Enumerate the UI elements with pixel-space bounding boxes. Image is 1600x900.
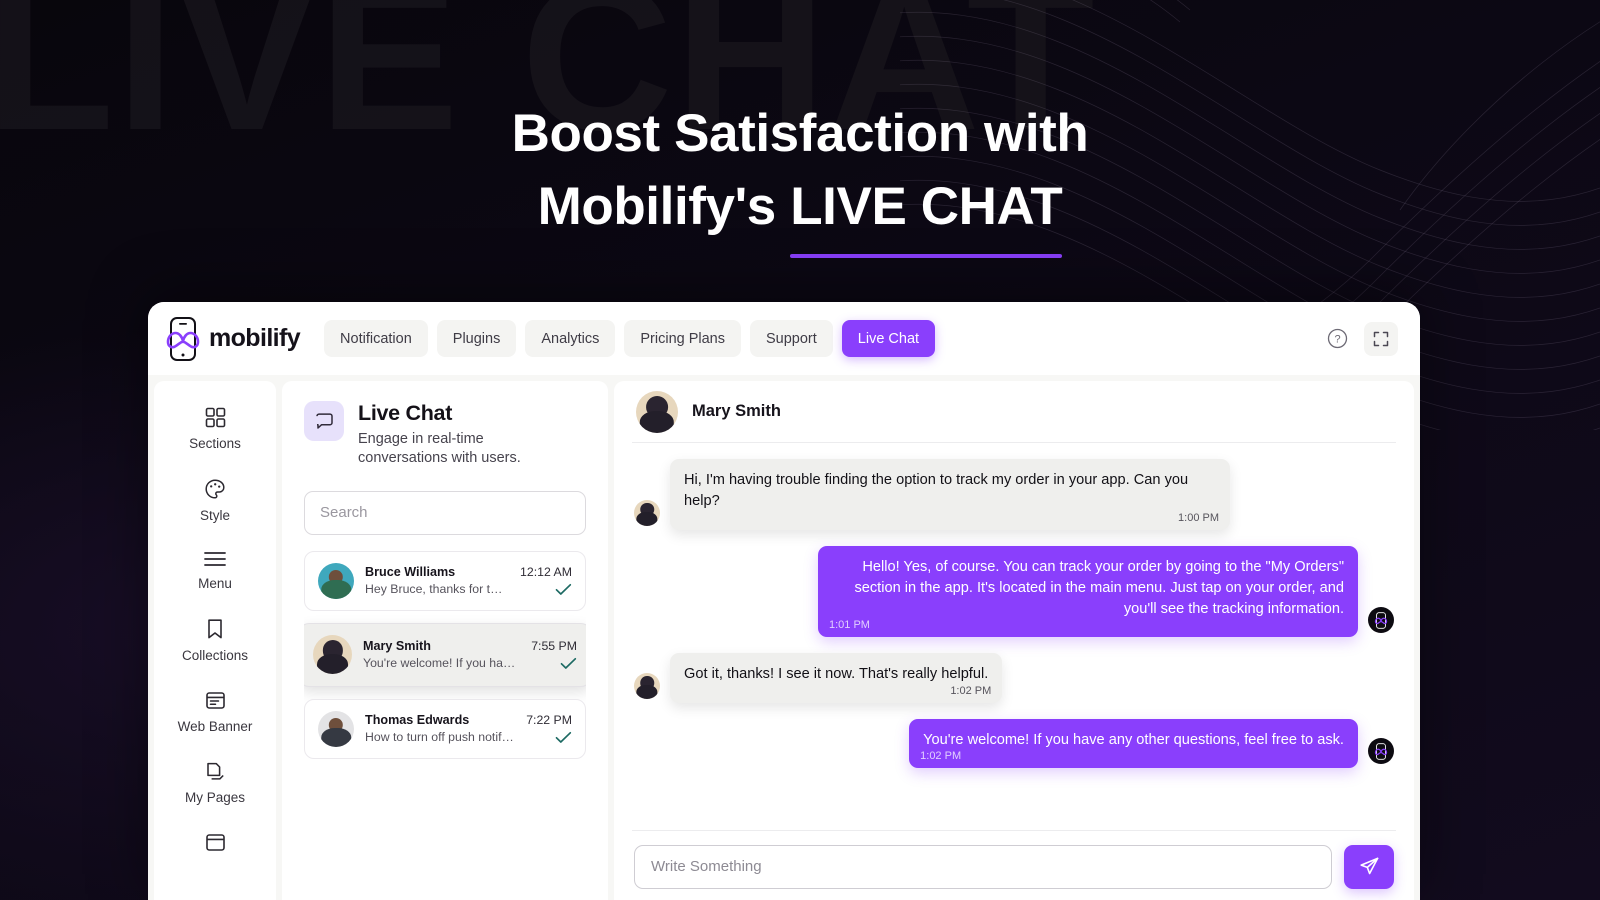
message-outgoing-2: You're welcome! If you have any other qu… bbox=[634, 719, 1394, 768]
conversations-header: Live Chat Engage in real-time conversati… bbox=[304, 401, 586, 469]
hamburger-icon bbox=[203, 550, 227, 568]
sidebar-item-menu[interactable]: Menu bbox=[154, 550, 276, 591]
message-timestamp: 1:02 PM bbox=[950, 683, 991, 699]
conversation-meta-bruce-williams: 12:12 AM bbox=[520, 565, 572, 596]
grid-icon bbox=[205, 407, 226, 428]
avatar-thomas-edwards bbox=[318, 711, 354, 747]
conversations-subtitle: Engage in real-time conversations with u… bbox=[358, 430, 563, 469]
message-input[interactable]: Write Something bbox=[634, 845, 1332, 889]
chat-panel: Mary Smith Hi, I'm having trouble findin… bbox=[614, 381, 1414, 900]
mobilify-phone-logo-icon bbox=[1374, 612, 1388, 629]
paper-plane-icon bbox=[1359, 856, 1380, 877]
conversation-text-mary-smith: Mary Smith You're welcome! If you have..… bbox=[363, 639, 520, 670]
conversation-name: Mary Smith bbox=[363, 639, 520, 653]
sidebar-item-style[interactable]: Style bbox=[154, 478, 276, 523]
sidebar-item-collections[interactable]: Collections bbox=[154, 618, 276, 663]
palette-icon bbox=[204, 478, 226, 500]
message-bubble: Hi, I'm having trouble finding the optio… bbox=[670, 459, 1230, 530]
conversations-panel: Live Chat Engage in real-time conversati… bbox=[282, 381, 608, 900]
nav-item-pricing-plans[interactable]: Pricing Plans bbox=[624, 320, 741, 357]
conversation-time: 12:12 AM bbox=[520, 565, 572, 579]
message-timestamp: 1:00 PM bbox=[1178, 510, 1219, 526]
sidebar-label-web-banner: Web Banner bbox=[178, 719, 253, 734]
mobilify-phone-logo-icon bbox=[166, 316, 200, 362]
message-input-placeholder: Write Something bbox=[651, 858, 762, 875]
message-avatar-mary-smith bbox=[634, 673, 660, 699]
chat-header-avatar bbox=[636, 391, 678, 433]
mobilify-phone-logo-icon bbox=[1374, 743, 1388, 760]
chat-bubble-icon bbox=[304, 401, 344, 441]
pages-icon bbox=[205, 761, 226, 782]
hero-line-2: Mobilify's LIVE CHAT bbox=[0, 169, 1600, 250]
message-timestamp: 1:01 PM bbox=[829, 617, 870, 633]
conversation-row-mary-smith[interactable]: Mary Smith You're welcome! If you have..… bbox=[304, 623, 586, 687]
sidebar-item-overflow-partial[interactable] bbox=[154, 832, 276, 853]
fullscreen-icon-glyph bbox=[1373, 331, 1389, 347]
app-body: Sections Style Menu bbox=[148, 375, 1420, 900]
message-avatar-mobilify bbox=[1368, 607, 1394, 633]
message-incoming-1: Hi, I'm having trouble finding the optio… bbox=[634, 459, 1394, 530]
message-bubble: You're welcome! If you have any other qu… bbox=[909, 719, 1358, 768]
banner-icon bbox=[205, 690, 226, 711]
sidebar-label-my-pages: My Pages bbox=[185, 790, 245, 805]
conversation-text-bruce-williams: Bruce Williams Hey Bruce, thanks for the… bbox=[365, 565, 509, 596]
message-text: Hello! Yes, of course. You can track you… bbox=[854, 559, 1344, 618]
message-timestamp: 1:02 PM bbox=[920, 748, 961, 764]
chat-header: Mary Smith bbox=[632, 381, 1396, 443]
message-text: Hi, I'm having trouble finding the optio… bbox=[684, 472, 1188, 509]
check-icon bbox=[555, 731, 572, 744]
conversation-preview: How to turn off push notifica... bbox=[365, 730, 515, 744]
banner-icon-partial bbox=[205, 832, 226, 853]
sidebar-label-sections: Sections bbox=[189, 436, 241, 451]
message-avatar-mobilify bbox=[1368, 738, 1394, 764]
message-text: You're welcome! If you have any other qu… bbox=[923, 732, 1344, 748]
sidebar-label-style: Style bbox=[200, 508, 230, 523]
conversation-name: Bruce Williams bbox=[365, 565, 509, 579]
message-thread: Hi, I'm having trouble finding the optio… bbox=[632, 443, 1396, 830]
svg-text:?: ? bbox=[1334, 334, 1340, 346]
nav-item-analytics[interactable]: Analytics bbox=[525, 320, 615, 357]
check-icon bbox=[560, 657, 577, 670]
message-bubble: Hello! Yes, of course. You can track you… bbox=[818, 546, 1358, 638]
nav-item-notification[interactable]: Notification bbox=[324, 320, 428, 357]
sidebar-label-collections: Collections bbox=[182, 648, 248, 663]
message-outgoing-1: Hello! Yes, of course. You can track you… bbox=[634, 546, 1394, 638]
conversation-name: Thomas Edwards bbox=[365, 713, 515, 727]
help-icon-glyph: ? bbox=[1327, 328, 1348, 349]
bookmark-icon bbox=[206, 618, 224, 640]
message-bubble: Got it, thanks! I see it now. That's rea… bbox=[670, 653, 1002, 702]
hero-emphasis-live-chat: LIVE CHAT bbox=[790, 169, 1062, 250]
check-icon bbox=[555, 583, 572, 596]
message-composer: Write Something bbox=[632, 830, 1396, 900]
brand-logo[interactable]: mobilify bbox=[166, 316, 300, 362]
app-topbar: mobilify Notification Plugins Analytics … bbox=[148, 302, 1420, 375]
help-icon[interactable]: ? bbox=[1322, 324, 1352, 354]
message-avatar-mary-smith bbox=[634, 500, 660, 526]
search-placeholder: Search bbox=[320, 504, 368, 521]
conversations-title: Live Chat bbox=[358, 401, 563, 426]
hero-heading: Boost Satisfaction with Mobilify's LIVE … bbox=[0, 96, 1600, 250]
send-button[interactable] bbox=[1344, 845, 1394, 889]
hero-line-1: Boost Satisfaction with bbox=[0, 96, 1600, 172]
hero-line-2-prefix: Mobilify's bbox=[538, 177, 791, 236]
conversation-meta-thomas-edwards: 7:22 PM bbox=[526, 713, 572, 744]
avatar-bruce-williams bbox=[318, 563, 354, 599]
sidebar-label-menu: Menu bbox=[198, 576, 232, 591]
chat-bubble-icon-glyph bbox=[315, 412, 334, 431]
chat-header-name: Mary Smith bbox=[692, 402, 781, 421]
fullscreen-icon[interactable] bbox=[1364, 322, 1398, 356]
top-navigation: Notification Plugins Analytics Pricing P… bbox=[324, 320, 935, 357]
conversation-meta-mary-smith: 7:55 PM bbox=[531, 639, 577, 670]
message-text: Got it, thanks! I see it now. That's rea… bbox=[684, 666, 988, 682]
brand-name: mobilify bbox=[209, 324, 300, 353]
sidebar-item-my-pages[interactable]: My Pages bbox=[154, 761, 276, 805]
conversation-text-thomas-edwards: Thomas Edwards How to turn off push noti… bbox=[365, 713, 515, 744]
search-input[interactable]: Search bbox=[304, 491, 586, 535]
conversation-row-bruce-williams[interactable]: Bruce Williams Hey Bruce, thanks for the… bbox=[304, 551, 586, 611]
conversation-time: 7:22 PM bbox=[526, 713, 572, 727]
message-incoming-2: Got it, thanks! I see it now. That's rea… bbox=[634, 653, 1394, 702]
sidebar-item-web-banner[interactable]: Web Banner bbox=[154, 690, 276, 734]
avatar-mary-smith bbox=[313, 635, 352, 674]
topbar-actions: ? bbox=[1322, 322, 1398, 356]
nav-item-plugins[interactable]: Plugins bbox=[437, 320, 517, 357]
conversation-time: 7:55 PM bbox=[531, 639, 577, 653]
left-sidebar: Sections Style Menu bbox=[154, 381, 276, 900]
nav-item-support[interactable]: Support bbox=[750, 320, 833, 357]
conversation-row-thomas-edwards[interactable]: Thomas Edwards How to turn off push noti… bbox=[304, 699, 586, 759]
nav-item-live-chat[interactable]: Live Chat bbox=[842, 320, 935, 357]
conversation-preview: You're welcome! If you have... bbox=[363, 656, 520, 670]
app-window: mobilify Notification Plugins Analytics … bbox=[148, 302, 1420, 900]
sidebar-item-sections[interactable]: Sections bbox=[154, 407, 276, 451]
conversation-list: Bruce Williams Hey Bruce, thanks for the… bbox=[304, 551, 586, 759]
conversation-preview: Hey Bruce, thanks for the... bbox=[365, 582, 509, 596]
